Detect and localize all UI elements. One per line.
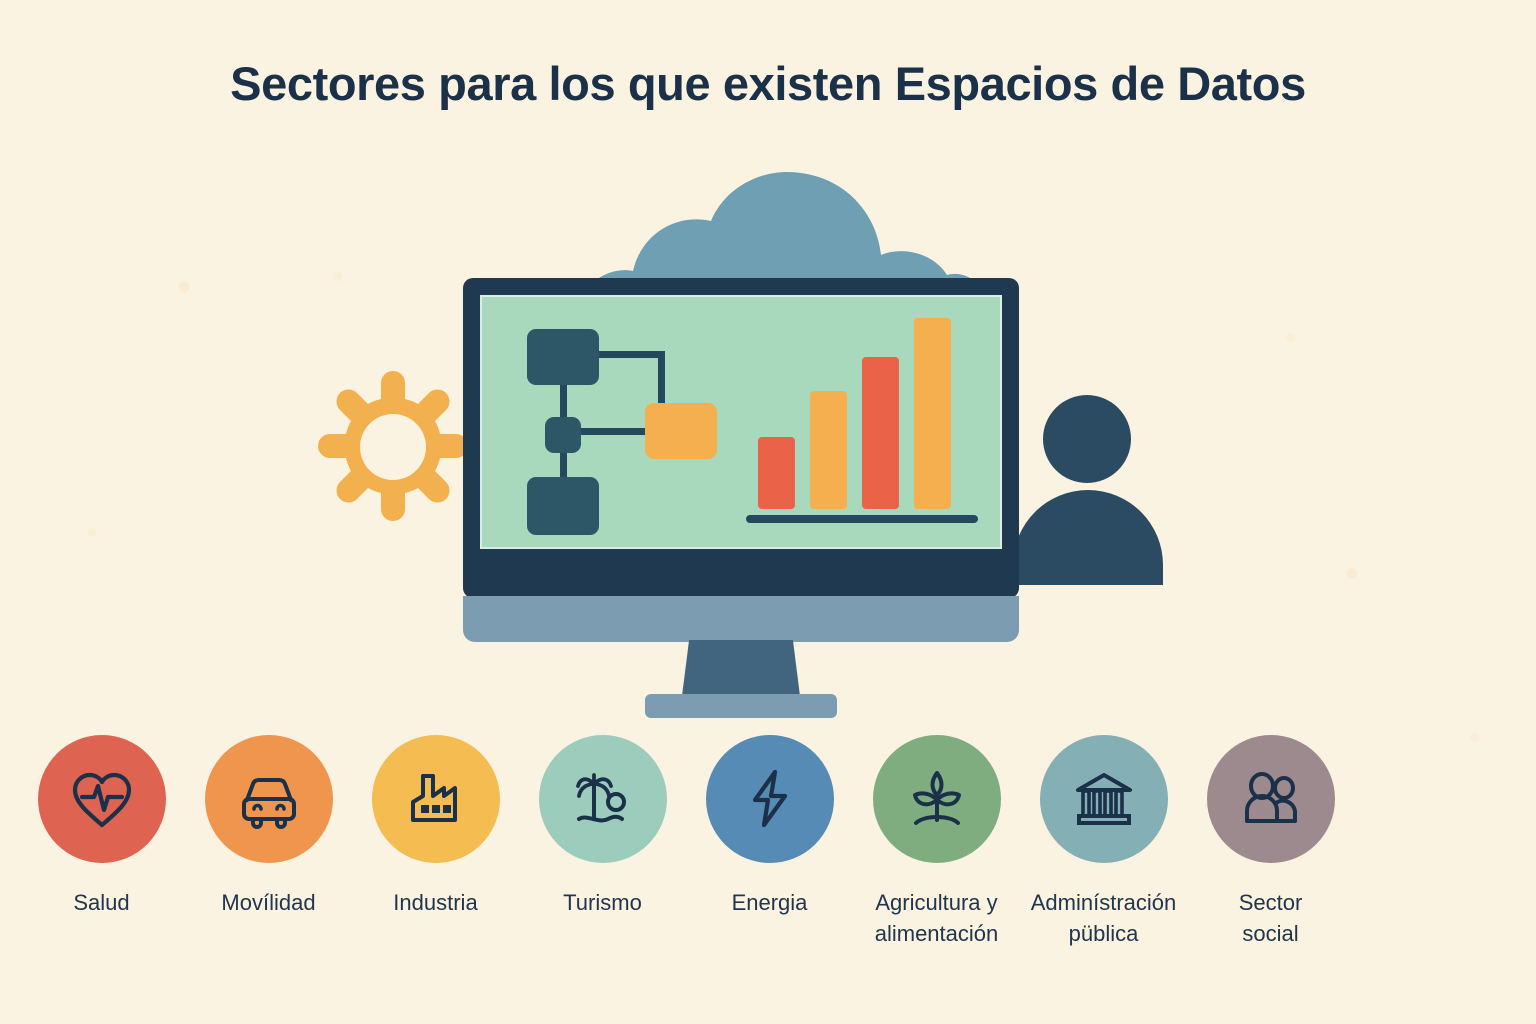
- hero-illustration: [0, 150, 1536, 710]
- sector-item-turismo[interactable]: Turismo: [519, 735, 686, 918]
- sector-label: Movílidad: [221, 887, 315, 918]
- sector-icon-circle[interactable]: [539, 735, 667, 863]
- sector-item-industria[interactable]: Industria: [352, 735, 519, 918]
- person-head: [1043, 395, 1131, 483]
- monitor-screen: [480, 295, 1002, 549]
- sector-label: Industria: [393, 887, 477, 918]
- sector-item-agricultura[interactable]: Agricultura y alimentación: [853, 735, 1020, 949]
- sector-label: Turismo: [563, 887, 642, 918]
- flow-connector: [577, 428, 653, 435]
- factory-icon: [399, 762, 473, 836]
- chart-baseline: [746, 515, 978, 523]
- sector-label: Agricultura y alimentación: [875, 887, 999, 949]
- bar-3: [862, 357, 899, 509]
- sector-list: Salud Movílidad Industria: [18, 735, 1518, 995]
- car-icon: [232, 762, 306, 836]
- bar-1: [758, 437, 795, 509]
- sector-icon-circle[interactable]: [372, 735, 500, 863]
- monitor-stand-neck: [682, 640, 800, 696]
- lightning-bolt-icon: [733, 762, 807, 836]
- two-people-icon: [1234, 762, 1308, 836]
- gear-icon: [313, 365, 473, 530]
- sector-icon-circle[interactable]: [1040, 735, 1168, 863]
- monitor-chin: [463, 596, 1019, 642]
- flow-node-bottom: [527, 477, 599, 535]
- person-silhouette: [1013, 395, 1163, 585]
- flow-diagram: [527, 329, 727, 524]
- flow-connector: [595, 351, 665, 358]
- heart-pulse-icon: [65, 762, 139, 836]
- flow-node-top: [527, 329, 599, 385]
- sector-item-sector-social[interactable]: Sector social: [1187, 735, 1354, 949]
- flow-node-highlight: [645, 403, 717, 459]
- sector-item-energia[interactable]: Energia: [686, 735, 853, 918]
- sprout-plant-icon: [900, 762, 974, 836]
- bar-2: [810, 391, 847, 509]
- sector-item-administracion[interactable]: Adminístración püblica: [1020, 735, 1187, 949]
- bar-chart: [744, 315, 984, 535]
- sector-icon-circle[interactable]: [205, 735, 333, 863]
- page-title: Sectores para los que existen Espacios d…: [0, 56, 1536, 111]
- sector-icon-circle[interactable]: [1207, 735, 1335, 863]
- bar-4: [914, 318, 951, 509]
- monitor-stand-base: [645, 694, 837, 718]
- sector-item-salud[interactable]: Salud: [18, 735, 185, 918]
- sector-label: Salud: [73, 887, 129, 918]
- person-body: [1013, 490, 1163, 585]
- sector-label: Adminístración püblica: [1031, 887, 1177, 949]
- sector-label: Sector social: [1239, 887, 1303, 949]
- sector-label: Energia: [732, 887, 808, 918]
- flow-node-middle: [545, 417, 581, 453]
- sector-icon-circle[interactable]: [706, 735, 834, 863]
- bank-building-icon: [1067, 762, 1141, 836]
- sector-icon-circle[interactable]: [38, 735, 166, 863]
- sector-item-movilidad[interactable]: Movílidad: [185, 735, 352, 918]
- palm-tree-icon: [566, 762, 640, 836]
- sector-icon-circle[interactable]: [873, 735, 1001, 863]
- monitor: [463, 278, 1019, 598]
